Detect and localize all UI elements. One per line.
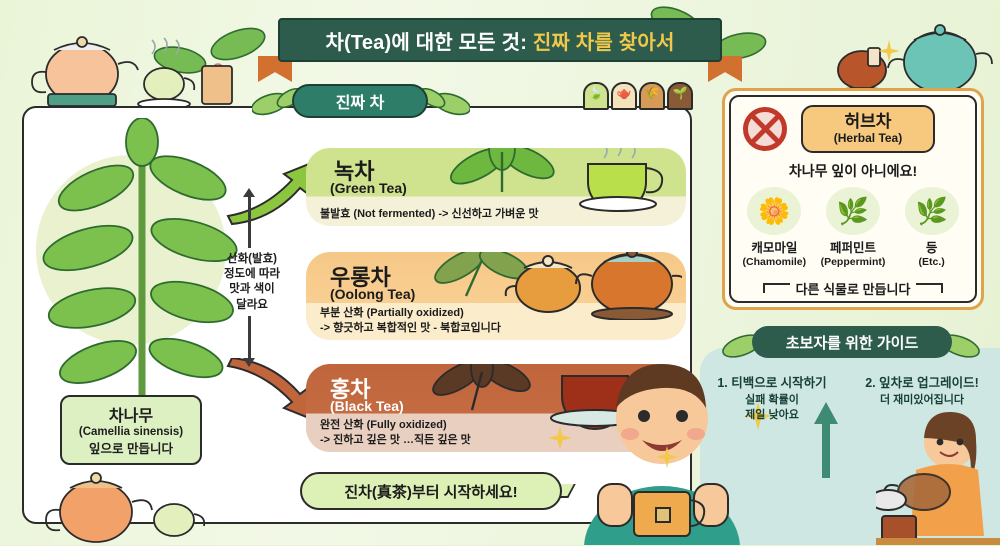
tea-card-oolong-head: 우롱차 (Oolong Tea) 부분 산화 (Partially oxidiz… [306, 252, 686, 340]
herb-name-kr: 등 [894, 237, 970, 256]
tea-desc-black: 완전 산화 (Fully oxidized) -> 진하고 깊은 맛 …직든 깊… [306, 414, 686, 452]
prohibition-icon [743, 107, 787, 151]
guide-step-1: 1. 티백으로 시작하기 실패 확률이 제일 낮아요 [706, 372, 838, 423]
oxidation-line-4: 달라요 [236, 299, 268, 311]
herb-item: 🌼 캐모마일 (Chamomile) [736, 187, 812, 268]
sparkle-icon-3 [878, 40, 900, 62]
tea-card-black[interactable]: 홍차 (Black Tea) 완전 산화 (Fully oxidized) ->… [306, 364, 686, 452]
tea-desc-oolong-line1: 부분 산화 (Partially oxidized) [320, 307, 464, 319]
herb-name-en: (Chamomile) [736, 256, 812, 268]
oxidation-line-2: 정도에 따라 [224, 268, 280, 280]
herbal-name-kr: 허브차 [845, 113, 892, 131]
green-leaves-icon [436, 148, 566, 204]
tea-desc-oolong: 부분 산화 (Partially oxidized) -> 향긋하고 복합적인 … [306, 302, 686, 340]
herbal-subtitle: 차나무 잎이 아니에요! [725, 161, 981, 181]
tea-card-black-head: 홍차 (Black Tea) 완전 산화 (Fully oxidized) ->… [306, 364, 686, 452]
herb-name-en: (Peppermint) [815, 256, 891, 268]
herbal-name-en: (Herbal Tea) [834, 131, 902, 145]
tea-name-en-oolong: (Oolong Tea) [330, 286, 415, 302]
plant-name-kr: 차나무 [66, 402, 196, 426]
oxidation-arrow-head-top [243, 188, 255, 197]
sprout-icon[interactable]: 🌱 [667, 82, 693, 110]
tea-card-green[interactable]: 녹차 (Green Tea) 불발효 (Not fermented) -> 신선… [306, 148, 686, 226]
guide-step-1-title: 1. 티백으로 시작하기 [706, 372, 838, 391]
oxidation-line-3: 맛과 색이 [229, 283, 275, 295]
poster-title: 차(Tea)에 대한 모든 것: 진짜 차를 찾아서 [325, 26, 674, 55]
bracket-left [763, 283, 790, 293]
guide-step-1-sub: 실패 확률이 제일 낮아요 [706, 393, 838, 423]
oxidation-line-1: 산화(발효) [227, 253, 277, 265]
tea-name-en-black: (Black Tea) [330, 398, 404, 414]
plant-backdrop-circle [36, 155, 226, 345]
start-with-true-tea-bubble: 진차(真茶)부터 시작하세요! [300, 472, 562, 510]
bracket-right [916, 283, 943, 293]
plant-name-sub: 잎으로 만듭니다 [66, 438, 196, 457]
sparkle-icon-4 [656, 446, 678, 468]
guide-section-header: 초보자를 위한 가이드 [752, 326, 952, 358]
oxidation-arrow-head-bottom [243, 358, 255, 367]
oxidation-note: 산화(발효) 정도에 따라 맛과 색이 달라요 [210, 252, 294, 313]
section-header-label: 진짜 차 [336, 89, 385, 113]
herbal-bracket-text: 다른 식물로 만듭니다 [790, 279, 917, 298]
chamomile-icon: 🌼 [747, 187, 801, 235]
herb-item: 🌿 페퍼민트 (Peppermint) [815, 187, 891, 268]
guide-step-2-title: 2. 잎차로 업그레이드! [846, 372, 998, 391]
title-plain: 차(Tea)에 대한 모든 것: [325, 32, 532, 54]
herbal-bracket: 다른 식물로 만듭니다 [763, 277, 943, 299]
guide-step-2: 2. 잎차로 업그레이드! 더 재미있어집니다 [846, 372, 998, 408]
herb-list: 🌼 캐모마일 (Chamomile) 🌿 페퍼민트 (Peppermint) 🌿… [735, 187, 971, 268]
teapot-cups-decoration-left [24, 22, 244, 108]
infographic-poster: 차(Tea)에 대한 모든 것: 진짜 차를 찾아서 차나무 (Camellia… [0, 0, 1000, 545]
grain-icon[interactable]: 🌾 [639, 82, 665, 110]
section-header-true-tea: 진짜 차 [292, 84, 428, 118]
herb-name-kr: 페퍼민트 [815, 237, 891, 256]
oxidation-axis-line-bottom [248, 316, 251, 360]
tea-desc-black-line1: 완전 산화 (Fully oxidized) [320, 419, 447, 431]
camellia-sinensis-label: 차나무 (Camellia sinensis) 잎으로 만듭니다 [60, 395, 202, 465]
poster-title-banner: 차(Tea)에 대한 모든 것: 진짜 차를 찾아서 [278, 18, 722, 62]
herbal-tea-tag: 허브차 (Herbal Tea) [801, 105, 935, 153]
teapot-icon[interactable]: 🫖 [611, 82, 637, 110]
oxidation-axis-line-top [248, 196, 251, 248]
icon-tab-group: 🍃 🫖 🌾 🌱 [583, 82, 693, 110]
sparkle-icon-2 [548, 426, 572, 450]
peppermint-icon: 🌿 [826, 187, 880, 235]
tea-desc-black-line2: -> 진하고 깊은 맛 …직든 깊은 맛 [320, 434, 471, 446]
tea-card-oolong[interactable]: 우롱차 (Oolong Tea) 부분 산화 (Partially oxidiz… [306, 252, 686, 340]
guide-heading-label: 초보자를 위한 가이드 [786, 332, 919, 353]
guide-step-2-sub: 더 재미있어집니다 [846, 393, 998, 408]
tea-card-green-head: 녹차 (Green Tea) 불발효 (Not fermented) -> 신선… [306, 148, 686, 226]
title-highlight: 진짜 차를 찾아서 [533, 32, 675, 54]
leaf-icon[interactable]: 🍃 [583, 82, 609, 110]
speech-bubble-text: 진차(真茶)부터 시작하세요! [344, 481, 517, 502]
tea-desc-green: 불발효 (Not fermented) -> 신선하고 가벼운 맛 [306, 203, 686, 226]
tea-name-en-green: (Green Tea) [330, 180, 407, 196]
etc-plant-icon: 🌿 [905, 187, 959, 235]
herb-item: 🌿 등 (Etc.) [894, 187, 970, 268]
herb-name-en: (Etc.) [894, 256, 970, 268]
black-tea-leaves-icon [424, 364, 544, 420]
teapot-cup-decoration-right [828, 14, 998, 96]
herbal-tea-panel: 허브차 (Herbal Tea) 차나무 잎이 아니에요! 🌼 캐모마일 (Ch… [722, 88, 984, 310]
tea-desc-oolong-line2: -> 향긋하고 복합적인 맛 - 북합코입니다 [320, 322, 501, 334]
herb-name-kr: 캐모마일 [736, 237, 812, 256]
plant-name-en: (Camellia sinensis) [66, 426, 196, 438]
